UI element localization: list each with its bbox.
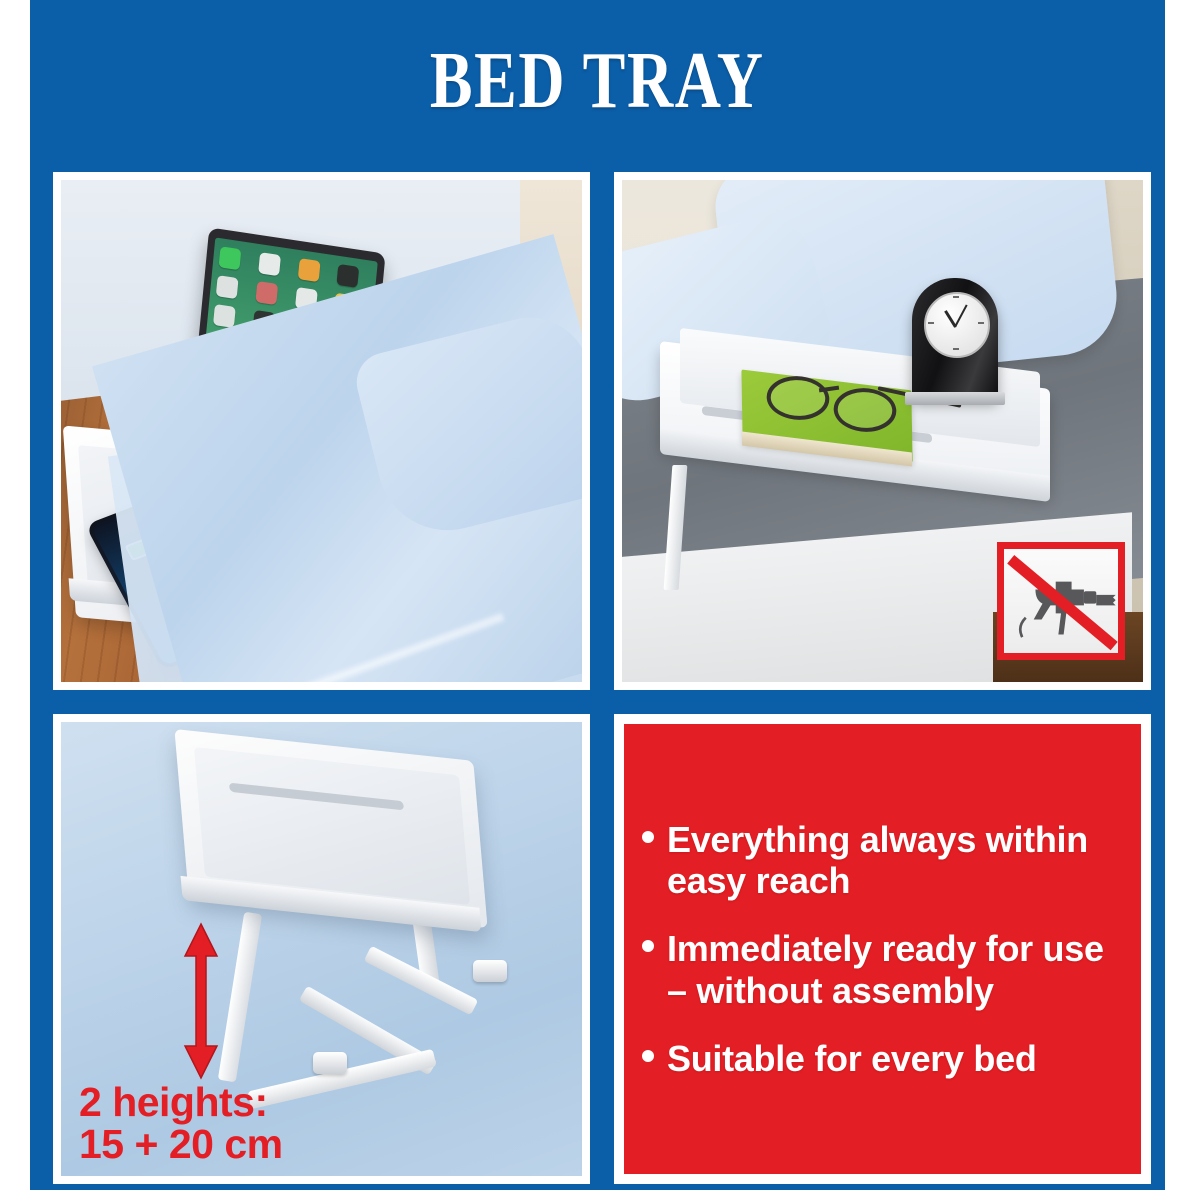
clock-numeral [953,348,959,350]
bullet-dot-icon [642,1050,654,1062]
height-caption: 2 heights: 15 + 20 cm [79,1082,283,1166]
panel-tray-with-clock [614,172,1151,690]
clock-numeral [953,296,959,298]
list-item: Everything always within easy reach [642,819,1115,903]
bullet-dot-icon [642,940,654,952]
list-item-label: Everything always within easy reach [667,819,1115,903]
photo-tray-with-tablet [61,180,582,682]
title-bar: BED TRAY [30,26,1165,136]
height-arrow-icon [181,922,221,1080]
clock-numeral [978,322,984,324]
app-icon [213,304,236,328]
photo-product-shot: 2 heights: 15 + 20 cm [61,722,582,1176]
list-item: Suitable for every bed [642,1038,1115,1080]
list-item: Immediately ready for use – without asse… [642,928,1115,1012]
page-title: BED TRAY [430,41,765,121]
app-icon [258,252,281,276]
app-icon [216,275,239,299]
bracket-hinge-left [313,1052,347,1074]
photo-tray-with-clock [622,180,1143,682]
list-item-label: Suitable for every bed [667,1038,1037,1080]
no-drill-badge [997,542,1125,660]
app-icon [255,281,278,305]
app-icon [337,264,360,288]
bullet-dot-icon [642,831,654,843]
list-item-label: Immediately ready for use – without asse… [667,928,1115,1012]
height-caption-line-1: 2 heights: [79,1082,283,1124]
bracket-hinge-right [473,960,507,982]
clock-numeral [928,322,934,324]
app-icon [219,246,242,270]
panel-tray-with-tablet [53,172,590,690]
clock-base [905,392,1005,405]
feature-list: Everything always within easy reach Imme… [624,724,1141,1174]
panel-product-shot: 2 heights: 15 + 20 cm [53,714,590,1184]
height-caption-line-2: 15 + 20 cm [79,1124,283,1166]
product-poster: BED TRAY [0,0,1200,1200]
panel-feature-list: Everything always within easy reach Imme… [614,714,1151,1184]
app-icon [297,258,320,282]
